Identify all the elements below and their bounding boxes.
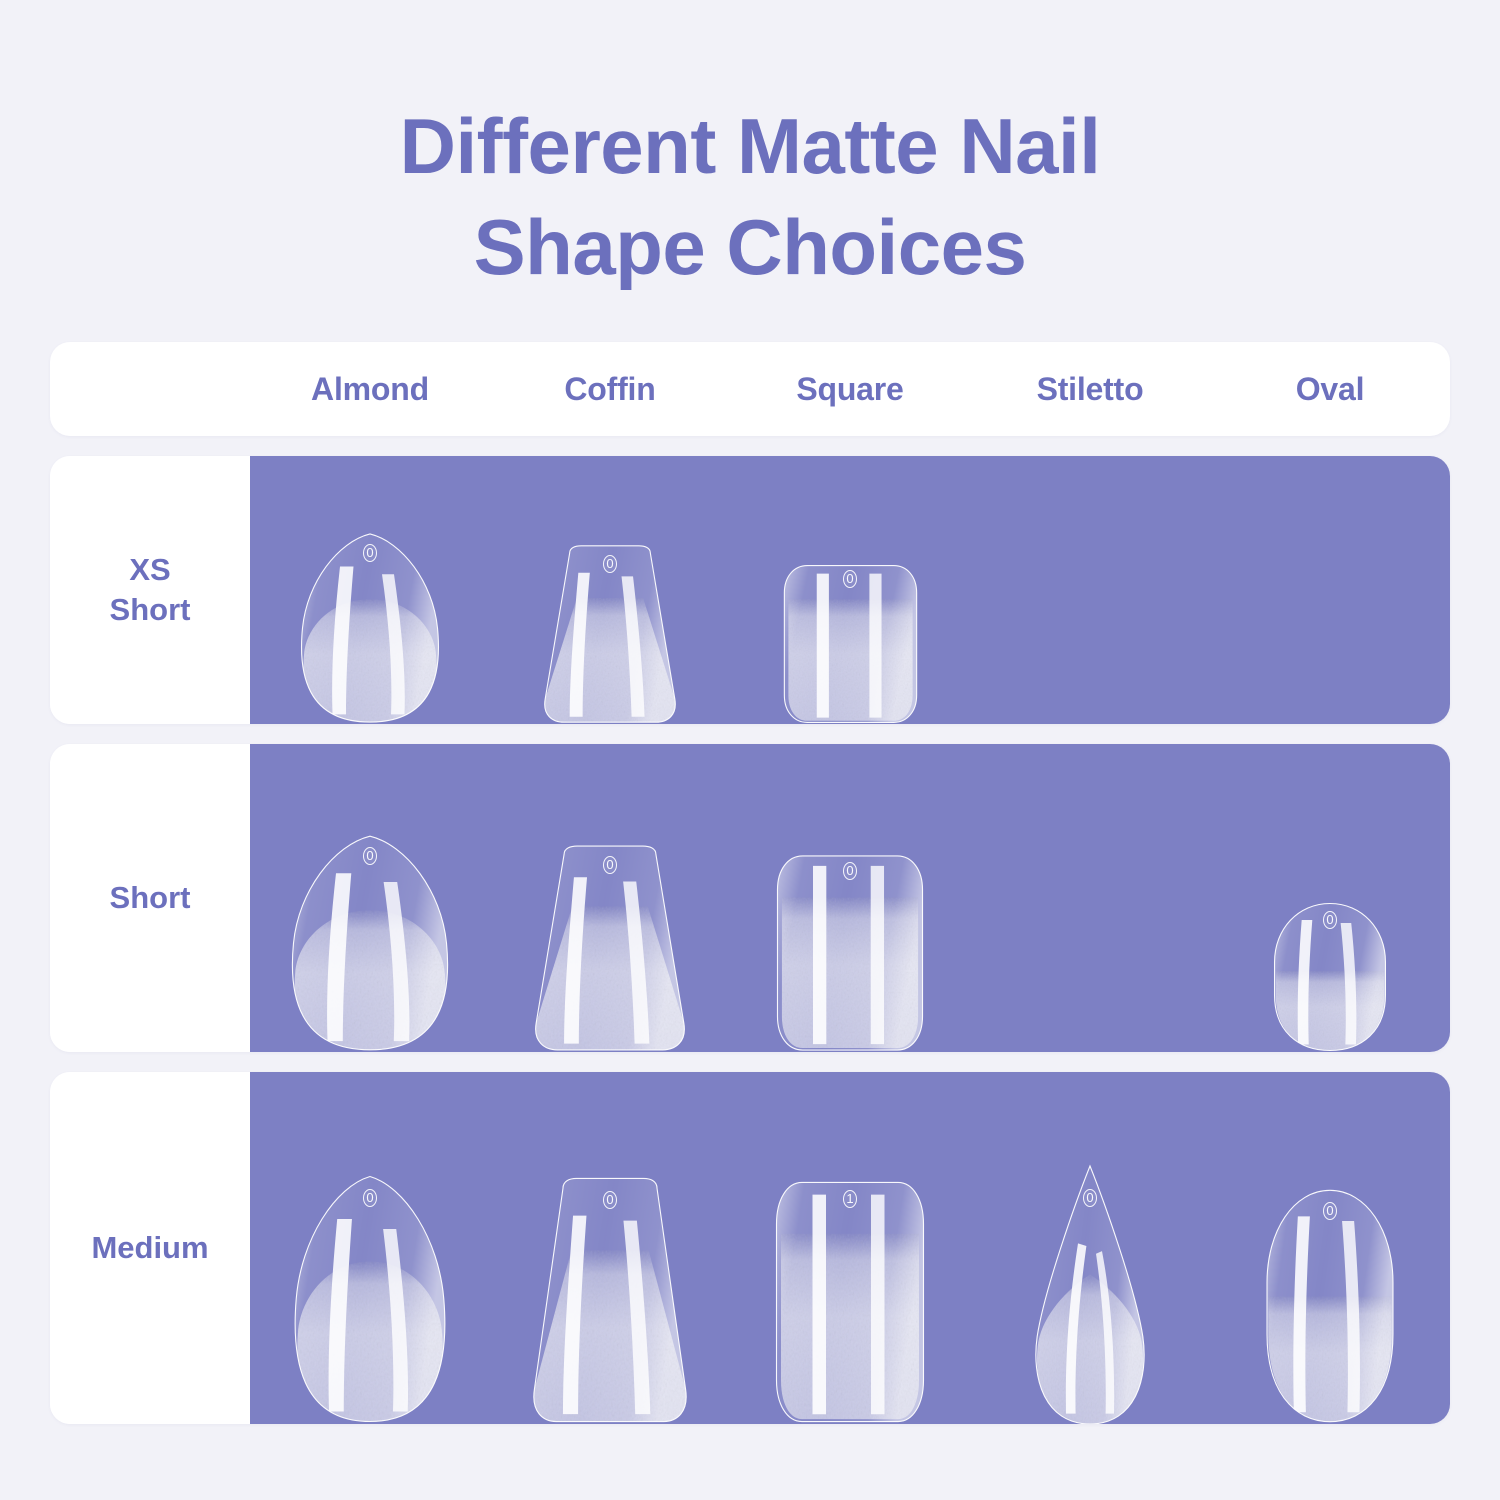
nail-shape-size-table: Almond Coffin Square Stiletto Oval XS Sh… xyxy=(50,342,1450,1424)
nail-size-mark: 0 xyxy=(363,847,377,865)
nail-size-mark: 0 xyxy=(1323,911,1337,929)
nail-shape-square xyxy=(775,1180,925,1424)
nail-size-mark: 0 xyxy=(363,544,377,562)
row-label-medium: Medium xyxy=(50,1072,250,1424)
nail-size-mark: 0 xyxy=(603,856,617,874)
nail-gloss-streak xyxy=(816,574,828,718)
cell-short-square[interactable]: 0 xyxy=(730,744,970,1052)
cell-xs-short-stiletto xyxy=(970,456,1210,724)
nail-shape-coffin xyxy=(528,844,692,1052)
nail-shape-square xyxy=(776,854,924,1052)
nail-tip-square-short[interactable]: 0 xyxy=(776,854,924,1052)
nail-size-mark: 0 xyxy=(1323,1202,1337,1220)
nail-tip-oval-short[interactable]: 0 xyxy=(1271,902,1389,1052)
nail-size-mark: 0 xyxy=(363,1189,377,1207)
nail-tip-square-medium[interactable]: 1 xyxy=(775,1180,925,1424)
cell-empty xyxy=(1090,723,1091,724)
nail-tip-coffin-medium[interactable]: 0 xyxy=(526,1176,694,1424)
nail-size-mark: 0 xyxy=(1083,1189,1097,1207)
cell-short-oval[interactable]: 0 xyxy=(1210,744,1450,1052)
row-panel-xs-short: 000 xyxy=(250,456,1450,724)
nail-tip-square-xs-short[interactable]: 0 xyxy=(783,564,918,724)
nail-tip-oval-medium[interactable]: 0 xyxy=(1263,1188,1397,1424)
cell-empty xyxy=(1090,1051,1091,1052)
nail-shape-oval xyxy=(1263,1188,1397,1424)
cell-xs-short-oval xyxy=(1210,456,1450,724)
nail-size-mark: 0 xyxy=(843,570,857,588)
nail-shape-coffin xyxy=(526,1176,694,1424)
table-row-xs-short: XS Short000 xyxy=(50,456,1450,724)
cell-medium-coffin[interactable]: 0 xyxy=(490,1072,730,1424)
cell-medium-almond[interactable]: 0 xyxy=(250,1072,490,1424)
nail-tip-coffin-short[interactable]: 0 xyxy=(528,844,692,1052)
nail-shape-almond xyxy=(288,1174,452,1424)
table-body: XS Short000Short0000Medium00100 xyxy=(50,456,1450,1424)
cell-xs-short-square[interactable]: 0 xyxy=(730,456,970,724)
row-label-short: Short xyxy=(50,744,250,1052)
nail-size-mark: 0 xyxy=(603,1191,617,1209)
table-row-short: Short0000 xyxy=(50,744,1450,1052)
nail-gloss-streak xyxy=(813,1195,827,1415)
nail-tip-almond-medium[interactable]: 0 xyxy=(288,1174,452,1424)
cell-short-stiletto xyxy=(970,744,1210,1052)
nail-shape-almond xyxy=(285,834,455,1052)
nail-size-mark: 0 xyxy=(843,862,857,880)
column-header-list: Almond Coffin Square Stiletto Oval xyxy=(250,371,1450,408)
nail-gloss-streak xyxy=(813,866,826,1044)
nail-gloss-streak xyxy=(869,574,881,718)
page-title-line-2: Shape Choices xyxy=(0,197,1500,298)
cell-short-almond[interactable]: 0 xyxy=(250,744,490,1052)
nail-tip-almond-xs-short[interactable]: 0 xyxy=(295,532,445,724)
cell-xs-short-almond[interactable]: 0 xyxy=(250,456,490,724)
nail-tip-almond-short[interactable]: 0 xyxy=(285,834,455,1052)
nail-tip-coffin-xs-short[interactable]: 0 xyxy=(538,544,682,724)
cell-xs-short-coffin[interactable]: 0 xyxy=(490,456,730,724)
nail-size-mark: 0 xyxy=(603,555,617,573)
cell-empty xyxy=(1330,723,1331,724)
row-panel-short: 0000 xyxy=(250,744,1450,1052)
row-label-xs-short: XS Short xyxy=(50,456,250,724)
cell-medium-oval[interactable]: 0 xyxy=(1210,1072,1450,1424)
column-header-oval: Oval xyxy=(1210,371,1450,408)
column-header-coffin: Coffin xyxy=(490,371,730,408)
cell-medium-square[interactable]: 1 xyxy=(730,1072,970,1424)
column-header-almond: Almond xyxy=(250,371,490,408)
page-title-line-1: Different Matte Nail xyxy=(0,96,1500,197)
page-title: Different Matte Nail Shape Choices xyxy=(0,0,1500,299)
nail-gloss-streak xyxy=(871,1195,885,1415)
nail-size-mark: 1 xyxy=(843,1190,857,1208)
cell-short-coffin[interactable]: 0 xyxy=(490,744,730,1052)
row-panel-medium: 00100 xyxy=(250,1072,1450,1424)
column-header-square: Square xyxy=(730,371,970,408)
nail-gloss-streak xyxy=(871,866,884,1044)
cell-medium-stiletto[interactable]: 0 xyxy=(970,1072,1210,1424)
table-header-row: Almond Coffin Square Stiletto Oval xyxy=(50,342,1450,436)
table-row-medium: Medium00100 xyxy=(50,1072,1450,1424)
column-header-stiletto: Stiletto xyxy=(970,371,1210,408)
nail-tip-stiletto-medium[interactable]: 0 xyxy=(1030,1166,1150,1424)
